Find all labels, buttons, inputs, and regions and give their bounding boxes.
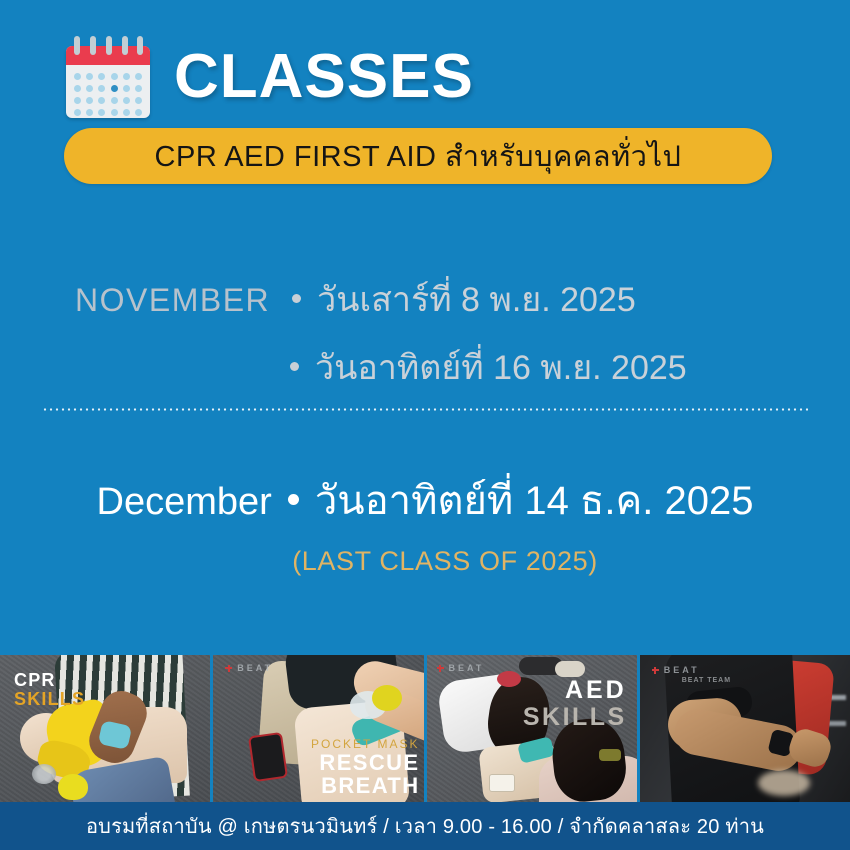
footer-text: อบรมที่สถาบัน @ เกษตรนวมินทร์ / เวลา 9.0… [86, 810, 764, 842]
brand-watermark: BEAT [664, 665, 700, 675]
photo-gym-training: BEAT TEAM BEAT [640, 655, 850, 802]
shirt-tag: BEAT TEAM [682, 677, 731, 684]
poster-header: CLASSES [62, 36, 474, 118]
photo-strip: CPR SKILLS BEAT POCKET MASK RESCUE BREAT… [0, 655, 850, 802]
photo-caption: CPR SKILLS [14, 671, 85, 709]
december-note: (LAST CLASS OF 2025) [0, 546, 850, 577]
photo-caption-line3: BREATH [311, 774, 419, 798]
december-schedule-block: December วันอาทิตย์ที่ 14 ธ.ค. 2025 (LAS… [0, 468, 850, 577]
november-month-label: NOVEMBER [75, 282, 270, 319]
calendar-ring [74, 36, 80, 55]
november-schedule-block: NOVEMBER วันเสาร์ที่ 8 พ.ย. 2025 วันอาทิ… [0, 272, 850, 394]
calendar-day-dot [111, 109, 118, 116]
december-date-1: วันอาทิตย์ที่ 14 ธ.ค. 2025 [315, 468, 754, 532]
course-title-text: CPR AED FIRST AID สำหรับบุคคลทั่วไป [155, 133, 682, 179]
calendar-day-dot [111, 97, 118, 104]
pocket-mask [32, 764, 56, 784]
yellow-glove [372, 685, 402, 711]
calendar-day-grid [72, 71, 144, 118]
manikin-blur [758, 770, 810, 796]
calendar-day-dot [135, 109, 142, 116]
calendar-day-dot [74, 97, 81, 104]
phone-prop [248, 732, 288, 782]
photo-caption: AED SKILLS [523, 677, 627, 730]
photo-aed-skills: BEAT AED SKILLS [427, 655, 637, 802]
brand-watermark: BEAT [237, 663, 273, 673]
calendar-day-dot [74, 109, 81, 116]
calendar-rings [66, 36, 150, 58]
calendar-day-dot-selected [111, 85, 118, 92]
course-title-banner: CPR AED FIRST AID สำหรับบุคคลทั่วไป [64, 128, 772, 184]
calendar-day-dot [98, 73, 105, 80]
bullet-icon [288, 494, 299, 505]
red-cross-icon [437, 665, 444, 672]
calendar-day-dot [123, 109, 130, 116]
calendar-day-dot [135, 73, 142, 80]
footer-bar: อบรมที่สถาบัน @ เกษตรนวมินทร์ / เวลา 9.0… [0, 802, 850, 850]
photo-caption: POCKET MASK RESCUE BREATH [311, 738, 419, 798]
calendar-day-dot [98, 85, 105, 92]
calendar-day-dot [135, 85, 142, 92]
bystander-shoe [555, 661, 585, 677]
calendar-day-dot [123, 73, 130, 80]
november-row-1: NOVEMBER วันเสาร์ที่ 8 พ.ย. 2025 [0, 272, 850, 326]
photo-caption-line2: RESCUE [311, 751, 419, 775]
calendar-icon [62, 36, 156, 118]
calendar-ring [106, 36, 112, 55]
calendar-day-dot [86, 109, 93, 116]
calendar-ring [122, 36, 128, 55]
poster-canvas: CLASSES CPR AED FIRST AID สำหรับบุคคลทั่… [0, 0, 850, 850]
december-month-label: December [97, 481, 272, 524]
hair-clip [599, 749, 621, 761]
calendar-day-dot [111, 73, 118, 80]
calendar-day-dot [74, 85, 81, 92]
page-title: CLASSES [174, 46, 474, 108]
red-cross-icon [225, 665, 232, 672]
calendar-ring [90, 36, 96, 55]
calendar-ring [137, 36, 143, 55]
calendar-day-dot [86, 85, 93, 92]
calendar-day-dot [86, 97, 93, 104]
photo-cpr-skills: CPR SKILLS [0, 655, 210, 802]
calendar-day-dot [123, 85, 130, 92]
photo-caption-line1: CPR [14, 671, 85, 690]
photo-caption-line2: SKILLS [14, 690, 85, 709]
calendar-day-dot [86, 73, 93, 80]
photo-caption-line1: AED [523, 677, 627, 704]
aed-pad [489, 774, 515, 792]
photo-rescue-breath: BEAT POCKET MASK RESCUE BREATH [213, 655, 423, 802]
november-row-2: วันอาทิตย์ที่ 16 พ.ย. 2025 [0, 340, 850, 394]
red-cross-icon [652, 667, 659, 674]
calendar-day-dot [135, 97, 142, 104]
november-date-2: วันอาทิตย์ที่ 16 พ.ย. 2025 [315, 340, 687, 394]
calendar-day-dot [74, 73, 81, 80]
bullet-icon [292, 294, 301, 303]
december-row-1: December วันอาทิตย์ที่ 14 ธ.ค. 2025 [0, 468, 850, 532]
photo-caption-line1: POCKET MASK [311, 738, 419, 751]
calendar-day-dot [98, 97, 105, 104]
calendar-day-dot [98, 109, 105, 116]
november-date-1: วันเสาร์ที่ 8 พ.ย. 2025 [317, 272, 636, 326]
hair-tie [497, 671, 521, 687]
bullet-icon [290, 362, 299, 371]
dotted-divider [42, 408, 808, 411]
calendar-day-dot [123, 97, 130, 104]
yellow-glove [58, 774, 88, 800]
brand-watermark: BEAT [449, 663, 485, 673]
photo-caption-line2: SKILLS [523, 704, 627, 731]
